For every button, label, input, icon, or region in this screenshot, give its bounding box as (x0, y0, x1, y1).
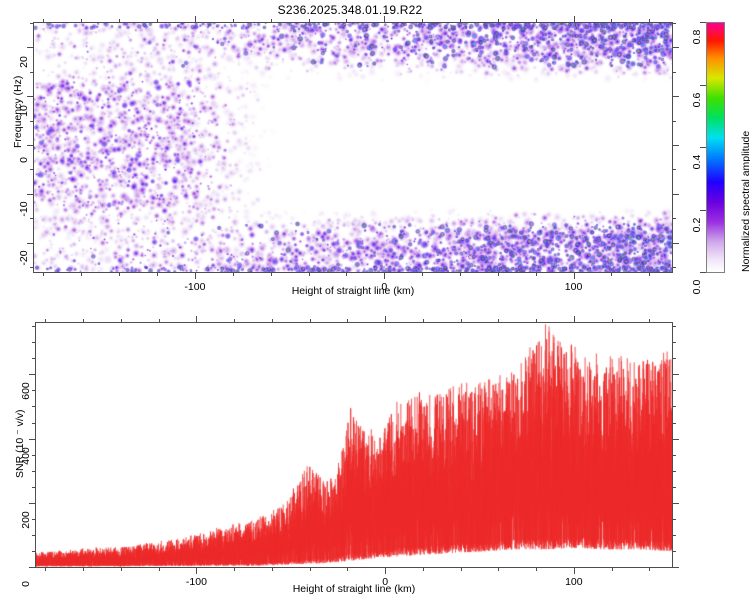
axis-tick (498, 319, 499, 323)
axis-tick (346, 19, 347, 23)
axis-tick (159, 319, 160, 323)
axis-tick (234, 567, 235, 571)
colorbar-axis-label: Normalized spectral amplitude (740, 131, 750, 272)
axis-tick (672, 455, 676, 456)
axis-tick (672, 535, 676, 536)
axis-tick (612, 319, 613, 323)
axis-tick (30, 72, 34, 73)
axis-tick (195, 272, 196, 279)
axis-tick (385, 316, 386, 323)
axis-tick (536, 272, 537, 276)
snr-trace-canvas (36, 323, 672, 567)
axis-tick (461, 319, 462, 323)
axis-tick (672, 471, 676, 472)
axis-tick (672, 567, 679, 568)
axis-tick (272, 319, 273, 323)
axis-tick (30, 169, 34, 170)
axis-tick (672, 47, 679, 48)
axis-tick (32, 406, 36, 407)
axis-tick (32, 326, 36, 327)
axis-tick (536, 19, 537, 23)
axis-tick (672, 503, 679, 504)
axis-tick (649, 567, 650, 571)
axis-tick (233, 272, 234, 276)
spectrogram-y-tick-label: -10 (18, 194, 30, 224)
axis-tick (498, 272, 499, 276)
axis-tick (45, 567, 46, 571)
axis-tick (32, 455, 36, 456)
axis-tick (157, 19, 158, 23)
axis-tick (574, 316, 575, 323)
axis-tick (422, 272, 423, 276)
axis-tick (672, 267, 676, 268)
axis-tick (234, 319, 235, 323)
axis-tick (159, 567, 160, 571)
snr-y-tick-label: 600 (20, 374, 32, 408)
axis-tick (346, 272, 347, 276)
axis-tick (649, 272, 650, 276)
axis-tick (611, 19, 612, 23)
figure-root: S236.2025.348.01.19.R22 -1000100-20-1001… (0, 0, 750, 600)
axis-tick (672, 342, 676, 343)
axis-tick (672, 218, 676, 219)
axis-tick (672, 358, 676, 359)
axis-tick (310, 319, 311, 323)
axis-tick (672, 374, 679, 375)
spectrogram-canvas (34, 23, 672, 272)
axis-tick (119, 272, 120, 276)
axis-tick (672, 439, 679, 440)
axis-tick (649, 19, 650, 23)
axis-tick (574, 567, 575, 574)
axis-tick (43, 19, 44, 23)
spectrogram-y-tick-label: 20 (18, 47, 30, 77)
axis-tick (347, 567, 348, 571)
axis-tick (672, 121, 676, 122)
axis-tick (536, 567, 537, 571)
axis-tick (498, 19, 499, 23)
axis-tick (672, 23, 676, 24)
axis-tick (384, 272, 385, 279)
spectrogram-y-tick-label: -20 (18, 243, 30, 273)
axis-tick (310, 567, 311, 571)
snr-x-axis-label: Height of straight line (km) (35, 583, 673, 595)
axis-tick (672, 326, 676, 327)
axis-tick (121, 319, 122, 323)
axis-tick (460, 19, 461, 23)
axis-tick (309, 19, 310, 23)
colorbar-gradient-strip (706, 22, 725, 273)
axis-tick (649, 319, 650, 323)
axis-tick (272, 567, 273, 571)
axis-tick (612, 567, 613, 571)
axis-tick (498, 567, 499, 571)
axis-tick (672, 243, 679, 244)
axis-tick (233, 19, 234, 23)
axis-tick (672, 169, 676, 170)
axis-tick (672, 519, 676, 520)
spectrogram-x-axis-label: Height of straight line (km) (33, 285, 673, 297)
axis-tick (672, 145, 679, 146)
axis-tick (43, 272, 44, 276)
axis-tick (30, 121, 34, 122)
axis-tick (461, 567, 462, 571)
axis-tick (385, 567, 386, 574)
axis-tick (423, 567, 424, 571)
axis-tick (30, 267, 34, 268)
axis-tick (672, 487, 676, 488)
axis-tick (672, 96, 679, 97)
axis-tick (384, 16, 385, 23)
axis-tick (45, 319, 46, 323)
axis-tick (83, 319, 84, 323)
colorbar-tick-label: 0.4 (691, 147, 703, 177)
figure-title: S236.2025.348.01.19.R22 (0, 3, 700, 17)
axis-tick (81, 272, 82, 276)
axis-tick (196, 567, 197, 574)
axis-tick (30, 23, 34, 24)
axis-tick (309, 272, 310, 276)
snr-y-tick-label: 200 (20, 503, 32, 537)
spectrogram-y-axis-label: Frequency (Hz) (12, 76, 24, 148)
colorbar-tick-label: 0.0 (691, 272, 703, 302)
axis-tick (423, 319, 424, 323)
axis-tick (32, 535, 36, 536)
axis-tick (196, 316, 197, 323)
axis-tick (81, 19, 82, 23)
axis-tick (32, 487, 36, 488)
axis-tick (32, 471, 36, 472)
axis-tick (195, 16, 196, 23)
axis-tick (121, 567, 122, 571)
axis-tick (611, 272, 612, 276)
axis-tick (32, 519, 36, 520)
axis-tick (672, 406, 676, 407)
axis-tick (574, 16, 575, 23)
colorbar-tick-label: 0.8 (691, 22, 703, 52)
axis-tick (672, 194, 679, 195)
axis-tick (460, 272, 461, 276)
spectrogram-y-tick-label: 0 (18, 145, 30, 175)
snr-y-tick-label: 0 (20, 567, 32, 601)
axis-tick (672, 390, 676, 391)
snr-y-axis-label: SNR (10 ⁻ v/v) (14, 409, 26, 478)
axis-tick (672, 551, 676, 552)
colorbar-tick-label: 0.6 (691, 85, 703, 115)
colorbar (706, 22, 725, 273)
axis-tick (536, 319, 537, 323)
axis-tick (32, 551, 36, 552)
axis-tick (32, 358, 36, 359)
axis-tick (32, 423, 36, 424)
axis-tick (32, 390, 36, 391)
axis-tick (157, 272, 158, 276)
axis-tick (119, 19, 120, 23)
axis-tick (672, 423, 676, 424)
axis-tick (422, 19, 423, 23)
axis-tick (30, 218, 34, 219)
spectrogram-plot-area (33, 22, 673, 273)
axis-tick (271, 272, 272, 276)
axis-tick (574, 272, 575, 279)
axis-tick (271, 19, 272, 23)
axis-tick (32, 342, 36, 343)
colorbar-tick-label: 0.2 (691, 210, 703, 240)
axis-tick (672, 72, 676, 73)
axis-tick (347, 319, 348, 323)
snr-plot-area (35, 322, 673, 568)
axis-tick (83, 567, 84, 571)
